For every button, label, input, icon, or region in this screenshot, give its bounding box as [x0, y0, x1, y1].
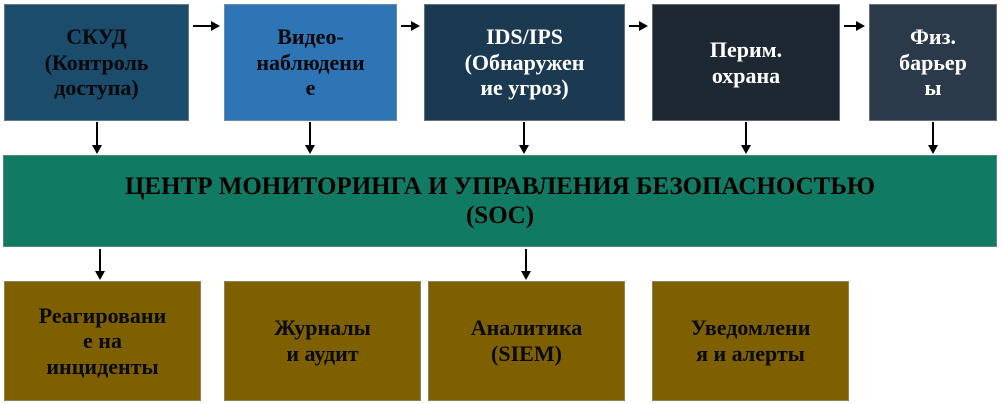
node-soc-center-label: ЦЕНТР МОНИТОРИНГА И УПРАВЛЕНИЯ БЕЗОПАСНО…: [8, 172, 992, 230]
node-physical-barriers-label: Физ. барьер ы: [874, 24, 992, 101]
node-logs-audit[interactable]: Журналы и аудит: [224, 281, 421, 401]
arrow-shaft: [193, 25, 212, 27]
arrow-down-icon-perimeter-to-soc: [739, 122, 753, 154]
arrow-head: [519, 145, 529, 154]
arrow-head: [521, 271, 531, 280]
arrow-shaft: [523, 122, 525, 145]
arrow-down-icon-ids-to-soc: [517, 122, 531, 154]
node-notifications-alerts[interactable]: Уведомлени я и алерты: [652, 281, 849, 401]
node-analytics-siem-label: Аналитика (SIEM): [433, 315, 620, 366]
arrow-right-icon-ids-to-perimeter: [629, 18, 648, 34]
node-ids-ips-label: IDS/IPS (Обнаружен ие угроз): [429, 24, 620, 101]
arrow-down-icon-acs-to-soc: [90, 122, 104, 154]
arrow-head: [411, 21, 420, 31]
security-architecture-diagram: СКУД (Контроль доступа) Видео- наблюдени…: [0, 0, 1002, 404]
node-incident-response[interactable]: Реагировани е на инциденты: [4, 281, 201, 401]
arrow-head: [305, 145, 315, 154]
arrow-shaft: [96, 122, 98, 145]
arrow-head: [211, 21, 220, 31]
node-acs-label: СКУД (Контроль доступа): [9, 24, 184, 101]
node-notifications-alerts-label: Уведомлени я и алерты: [657, 315, 844, 366]
arrow-shaft: [309, 122, 311, 145]
arrow-head: [856, 21, 865, 31]
arrow-head: [741, 145, 751, 154]
arrow-shaft: [525, 249, 527, 271]
node-ids-ips[interactable]: IDS/IPS (Обнаружен ие угроз): [424, 4, 625, 121]
node-logs-audit-label: Журналы и аудит: [229, 315, 416, 366]
arrow-right-icon-cctv-to-ids: [401, 18, 420, 34]
arrow-shaft: [932, 122, 934, 145]
arrow-right-icon-acs-to-cctv: [193, 18, 220, 34]
node-analytics-siem[interactable]: Аналитика (SIEM): [428, 281, 625, 401]
arrow-head: [639, 21, 648, 31]
node-incident-response-label: Реагировани е на инциденты: [9, 303, 196, 380]
arrow-down-icon-cctv-to-soc: [303, 122, 317, 154]
arrow-shaft: [99, 249, 101, 271]
node-perimeter-guard[interactable]: Перим. охрана: [652, 4, 840, 121]
arrow-shaft: [745, 122, 747, 145]
arrow-head: [92, 145, 102, 154]
node-soc-center[interactable]: ЦЕНТР МОНИТОРИНГА И УПРАВЛЕНИЯ БЕЗОПАСНО…: [3, 155, 997, 247]
arrow-right-icon-perimeter-to-physical: [844, 18, 865, 34]
arrow-head: [928, 145, 938, 154]
arrow-down-icon-soc-to-analytics: [519, 249, 533, 280]
node-cctv-label: Видео- наблюдени е: [229, 24, 392, 101]
node-cctv[interactable]: Видео- наблюдени е: [224, 4, 397, 121]
arrow-down-icon-soc-to-incident-response: [93, 249, 107, 280]
node-perimeter-guard-label: Перим. охрана: [657, 37, 835, 88]
node-acs[interactable]: СКУД (Контроль доступа): [4, 4, 189, 121]
arrow-head: [95, 271, 105, 280]
arrow-down-icon-physical-to-soc: [926, 122, 940, 154]
node-physical-barriers[interactable]: Физ. барьер ы: [869, 4, 997, 121]
